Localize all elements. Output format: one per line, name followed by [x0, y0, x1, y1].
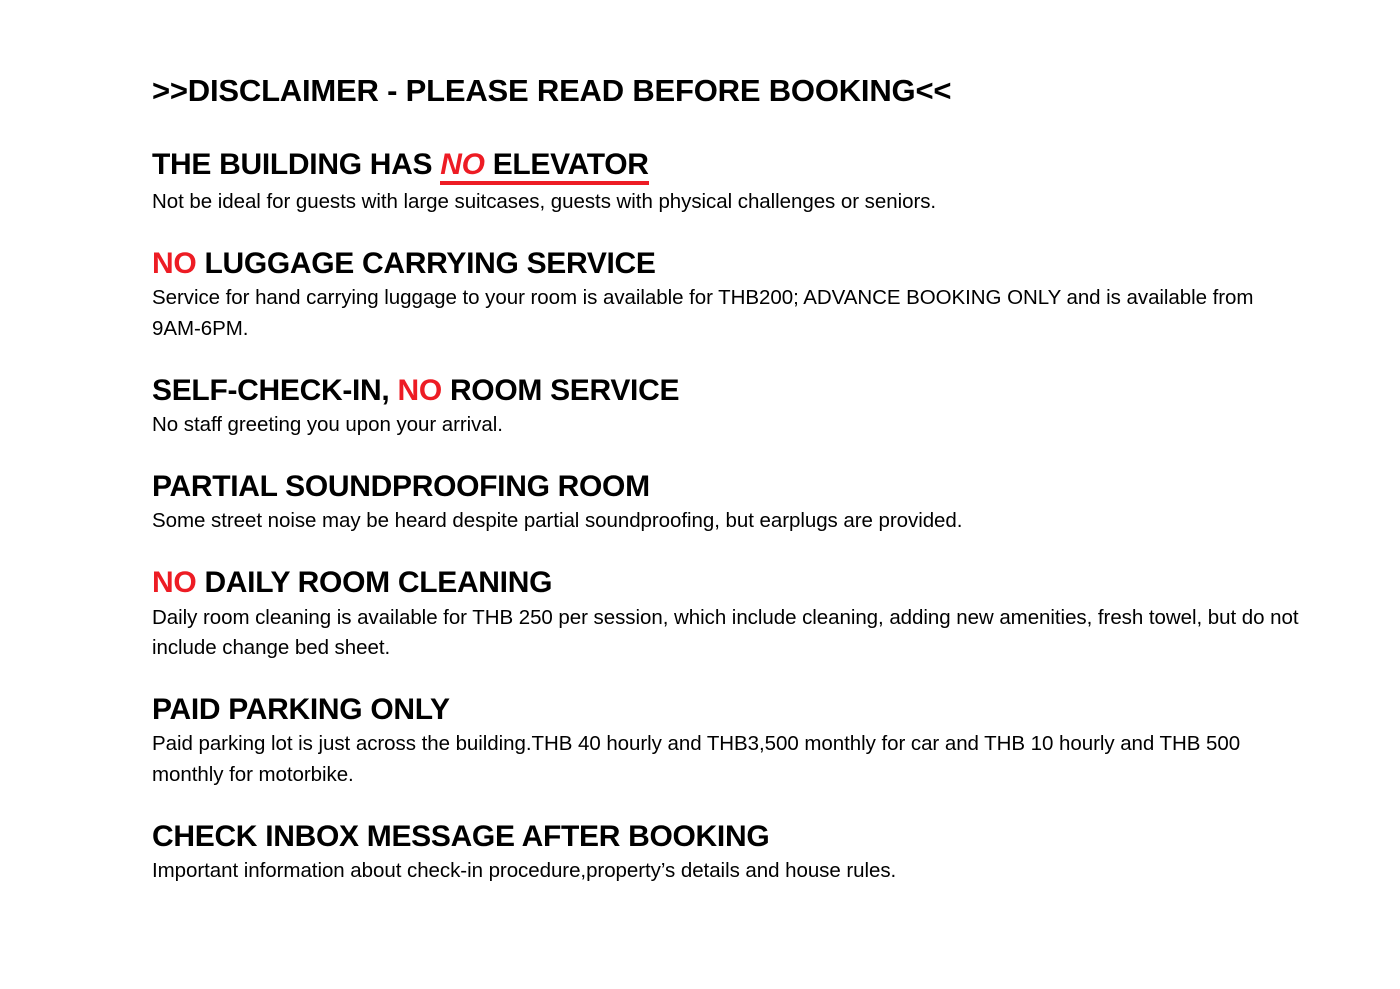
- page-title: >>DISCLAIMER - PLEASE READ BEFORE BOOKIN…: [152, 72, 1300, 111]
- section-heading-no-luggage-service: NO LUGGAGE CARRYING SERVICE: [152, 246, 1300, 281]
- heading-suffix-self-check-in: ROOM SERVICE: [442, 374, 679, 407]
- section-body-partial-soundproofing: Some street noise may be heard despite p…: [152, 506, 1300, 537]
- section-paid-parking: PAID PARKING ONLY Paid parking lot is ju…: [152, 692, 1300, 791]
- section-body-paid-parking: Paid parking lot is just across the buil…: [152, 729, 1300, 791]
- section-heading-partial-soundproofing: PARTIAL SOUNDPROOFING ROOM: [152, 469, 1300, 504]
- section-no-elevator: THE BUILDING HAS NO ELEVATOR Not be idea…: [152, 147, 1300, 218]
- heading-suffix-no-elevator: ELEVATOR: [485, 148, 649, 181]
- heading-emphasis-no-luggage-service: NO: [152, 247, 196, 280]
- section-check-inbox: CHECK INBOX MESSAGE AFTER BOOKING Import…: [152, 819, 1300, 887]
- heading-suffix-no-daily-cleaning: DAILY ROOM CLEANING: [196, 566, 552, 599]
- section-body-no-daily-cleaning: Daily room cleaning is available for THB…: [152, 603, 1300, 665]
- heading-emphasis-self-check-in: NO: [398, 374, 442, 407]
- section-self-check-in: SELF-CHECK-IN, NO ROOM SERVICE No staff …: [152, 373, 1300, 441]
- disclaimer-page: >>DISCLAIMER - PLEASE READ BEFORE BOOKIN…: [0, 0, 1400, 989]
- section-body-no-luggage-service: Service for hand carrying luggage to you…: [152, 283, 1300, 345]
- section-heading-paid-parking: PAID PARKING ONLY: [152, 692, 1300, 727]
- section-heading-no-elevator: THE BUILDING HAS NO ELEVATOR: [152, 147, 1300, 186]
- heading-prefix-self-check-in: SELF-CHECK-IN,: [152, 374, 398, 407]
- section-no-luggage-service: NO LUGGAGE CARRYING SERVICE Service for …: [152, 246, 1300, 345]
- heading-prefix-no-elevator: THE BUILDING HAS: [152, 148, 440, 181]
- heading-emphasis-no-elevator: NO: [440, 148, 484, 181]
- section-body-no-elevator: Not be ideal for guests with large suitc…: [152, 187, 1300, 218]
- section-heading-check-inbox: CHECK INBOX MESSAGE AFTER BOOKING: [152, 819, 1300, 854]
- section-no-daily-cleaning: NO DAILY ROOM CLEANING Daily room cleani…: [152, 565, 1300, 664]
- section-heading-no-daily-cleaning: NO DAILY ROOM CLEANING: [152, 565, 1300, 600]
- heading-suffix-no-luggage-service: LUGGAGE CARRYING SERVICE: [196, 247, 655, 280]
- section-heading-self-check-in: SELF-CHECK-IN, NO ROOM SERVICE: [152, 373, 1300, 408]
- section-body-self-check-in: No staff greeting you upon your arrival.: [152, 410, 1300, 441]
- section-partial-soundproofing: PARTIAL SOUNDPROOFING ROOM Some street n…: [152, 469, 1300, 537]
- heading-emphasis-no-daily-cleaning: NO: [152, 566, 196, 599]
- section-body-check-inbox: Important information about check-in pro…: [152, 856, 1300, 887]
